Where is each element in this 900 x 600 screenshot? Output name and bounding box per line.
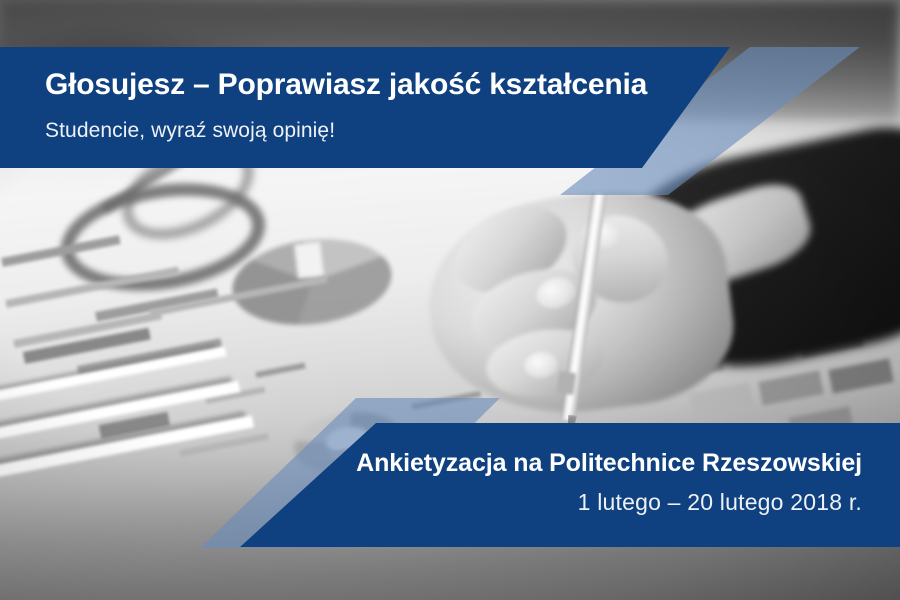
event-date-range: 1 lutego – 20 lutego 2018 r. <box>578 489 862 516</box>
headline: Głosujesz – Poprawiasz jakość kształceni… <box>45 68 647 102</box>
top-banner-shape <box>0 47 760 168</box>
event-title: Ankietyzacja na Politechnice Rzeszowskie… <box>356 449 862 478</box>
subheadline: Studencie, wyraź swoją opinię! <box>45 119 335 143</box>
promotional-poster: Głosujesz – Poprawiasz jakość kształceni… <box>0 0 900 600</box>
